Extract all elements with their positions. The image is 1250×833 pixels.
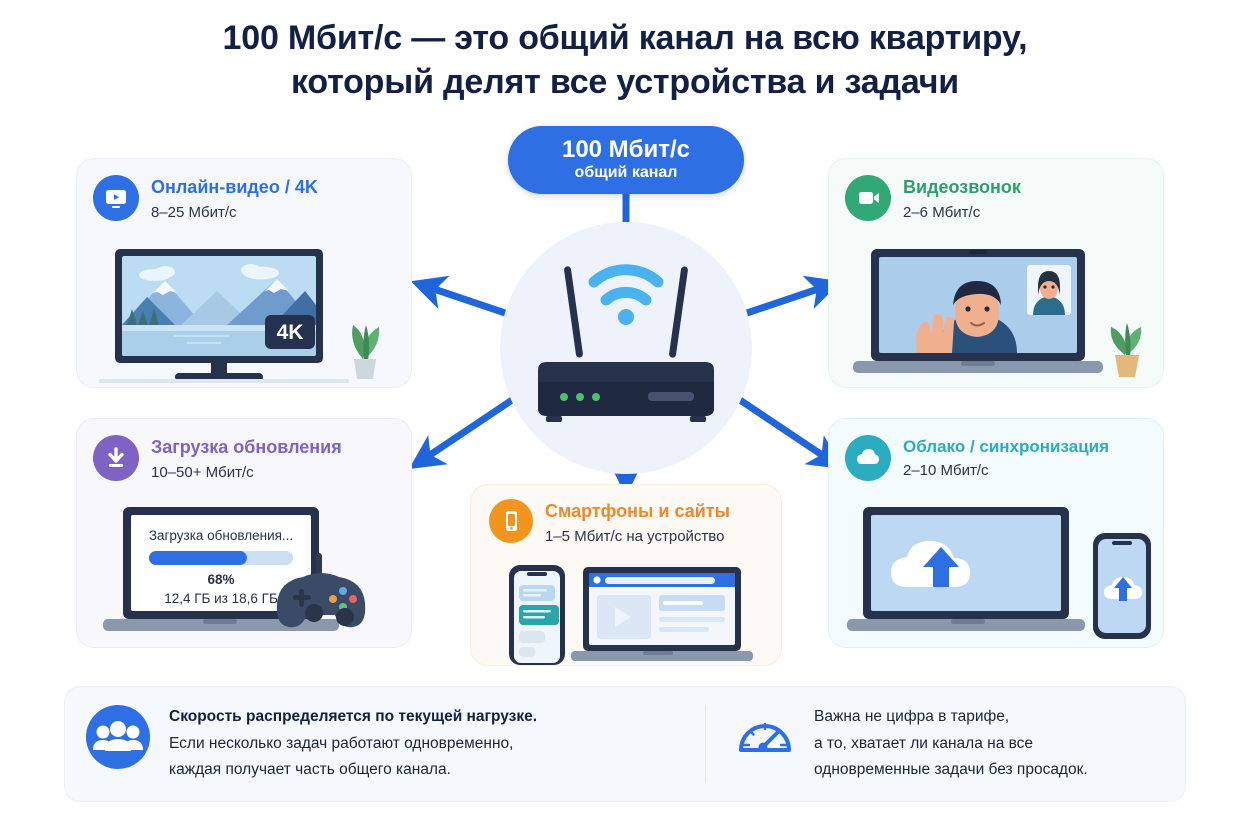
card-online-video[interactable]: Онлайн-видео / 4K 8–25 Мбит/с: [76, 158, 412, 388]
smartphone-icon: [489, 499, 533, 543]
title-line-1: 100 Мбит/с — это общий канал на всю квар…: [223, 19, 1028, 57]
footer-left: Скорость распределяется по текущей нагру…: [65, 704, 705, 784]
download-percent: 68%: [207, 572, 234, 587]
card-subtitle: 1–5 Мбит/с на устройство: [545, 528, 730, 547]
card-smartphones-sites[interactable]: Смартфоны и сайты 1–5 Мбит/с на устройст…: [470, 484, 782, 666]
cloud-upload-illustration: [829, 503, 1164, 647]
card-title: Видеозвонок: [903, 177, 1021, 199]
download-status-label: Загрузка обновления...: [149, 528, 293, 543]
hub-caption: общий канал: [575, 163, 678, 184]
laptop-download-illustration: Загрузка обновления... 68% 12,4 ГБ из 18…: [77, 503, 412, 647]
footer-right-line-1: Важна не цифра в тарифе,: [814, 704, 1088, 731]
laptop-video-call-illustration: [829, 247, 1164, 387]
card-subtitle: 10–50+ Мбит/с: [151, 464, 342, 483]
infographic-canvas: 100 Мбит/с — это общий канал на всю квар…: [0, 0, 1250, 833]
card-title: Загрузка обновления: [151, 437, 342, 459]
footer-right-line-2: а то, хватает ли канала на все: [814, 731, 1088, 758]
card-title: Облако / синхронизация: [903, 437, 1109, 457]
card-header-text: Загрузка обновления 10–50+ Мбит/с: [151, 435, 342, 482]
video-player-icon: [93, 175, 139, 221]
card-header-text: Онлайн-видео / 4K 8–25 Мбит/с: [151, 175, 318, 222]
title-line-2: который делят все устройства и задачи: [291, 63, 959, 101]
users-group-icon: [85, 704, 151, 770]
card-header-text: Видеозвонок 2–6 Мбит/с: [903, 175, 1021, 222]
footer-left-line-1: Если несколько задач работают одновремен…: [169, 731, 537, 758]
footer-right-line-3: одновременные задачи без просадок.: [814, 757, 1088, 784]
card-subtitle: 2–10 Мбит/с: [903, 462, 1109, 481]
tv-4k-badge: 4K: [277, 321, 304, 344]
footer-right: Важна не цифра в тарифе, а то, хватает л…: [706, 704, 1185, 784]
hub-speed: 100 Мбит/с: [562, 137, 690, 162]
tv-landscape-illustration: 4K: [77, 247, 412, 387]
card-subtitle: 8–25 Мбит/с: [151, 204, 318, 223]
card-header: Смартфоны и сайты 1–5 Мбит/с на устройст…: [471, 485, 781, 546]
page-title: 100 Мбит/с — это общий канал на всю квар…: [0, 16, 1250, 104]
card-header-text: Облако / синхронизация 2–10 Мбит/с: [903, 435, 1109, 481]
footer-right-text: Важна не цифра в тарифе, а то, хватает л…: [814, 704, 1088, 784]
card-header: Онлайн-видео / 4K 8–25 Мбит/с: [77, 159, 411, 222]
card-video-call[interactable]: Видеозвонок 2–6 Мбит/с: [828, 158, 1164, 388]
card-title: Смартфоны и сайты: [545, 501, 730, 523]
video-camera-icon: [845, 175, 891, 221]
card-header-text: Смартфоны и сайты 1–5 Мбит/с на устройст…: [545, 499, 730, 546]
footer-left-line-2: каждая получает часть общего канала.: [169, 757, 537, 784]
card-subtitle: 2–6 Мбит/с: [903, 204, 1021, 223]
cloud-icon: [845, 435, 891, 481]
card-download-update[interactable]: Загрузка обновления 10–50+ Мбит/с Загруз…: [76, 418, 412, 648]
wifi-router-icon: [500, 222, 752, 474]
card-header: Видеозвонок 2–6 Мбит/с: [829, 159, 1163, 222]
footer-band: Скорость распределяется по текущей нагру…: [64, 686, 1186, 802]
card-cloud-sync[interactable]: Облако / синхронизация 2–10 Мбит/с: [828, 418, 1164, 648]
card-header: Загрузка обновления 10–50+ Мбит/с: [77, 419, 411, 482]
hub-badge: 100 Мбит/с общий канал: [508, 126, 744, 194]
footer-left-text: Скорость распределяется по текущей нагру…: [169, 704, 537, 784]
card-header: Облако / синхронизация 2–10 Мбит/с: [829, 419, 1163, 481]
download-arrow-icon: [93, 435, 139, 481]
speedometer-icon: [734, 704, 796, 766]
download-size: 12,4 ГБ из 18,6 ГБ: [164, 591, 278, 606]
phone-laptop-web-illustration: [471, 561, 782, 665]
card-title: Онлайн-видео / 4K: [151, 177, 318, 199]
footer-left-heading: Скорость распределяется по текущей нагру…: [169, 704, 537, 731]
